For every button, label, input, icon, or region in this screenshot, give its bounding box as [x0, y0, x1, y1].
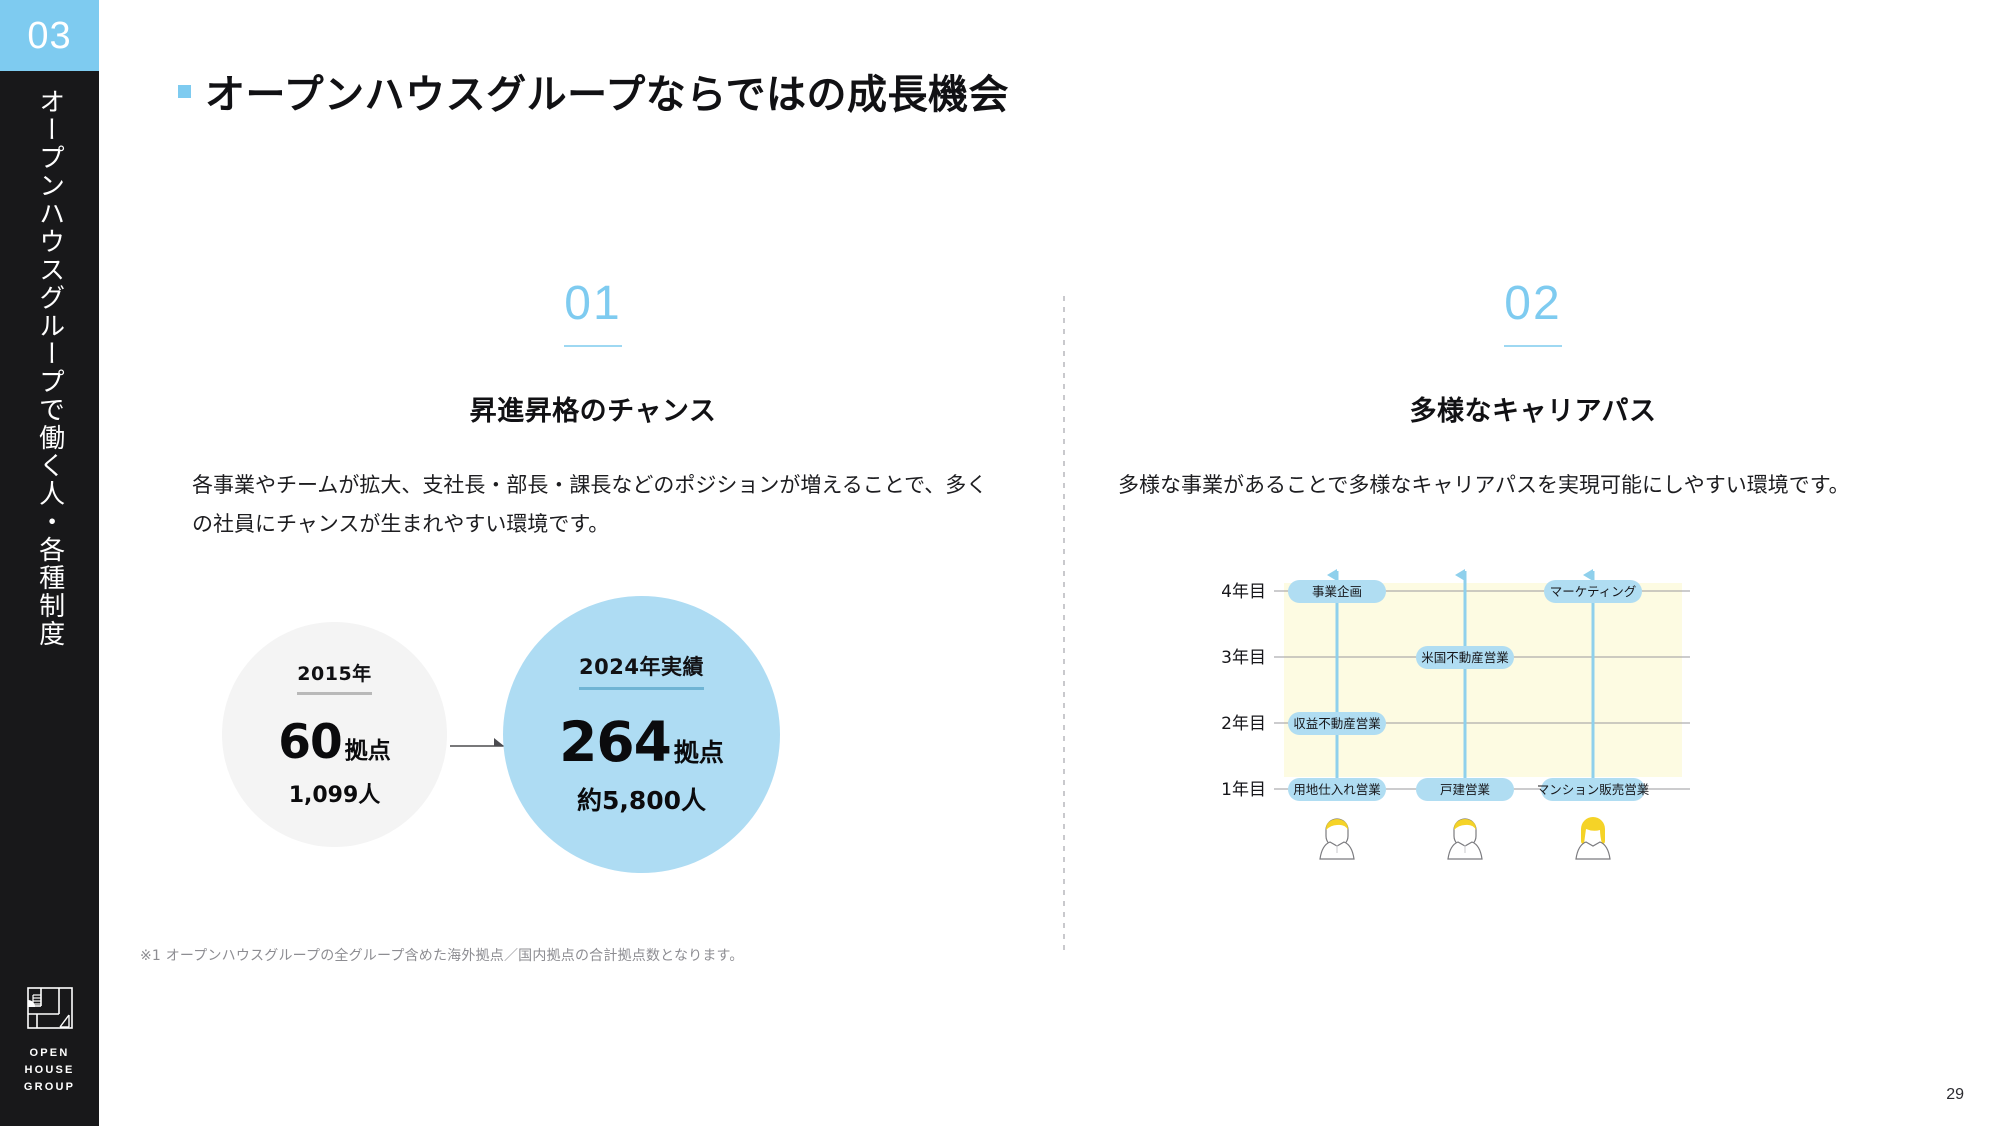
- sidebar-vertical-title-text: オープンハウスグループで働く人・各種制度: [29, 88, 69, 648]
- career-pill-p2-year1-label: 戸建営業: [1440, 782, 1491, 797]
- career-pill-p1-year4-label: 事業企画: [1312, 584, 1362, 599]
- section-01-underline: [564, 345, 622, 347]
- section-01: 01 昇進昇格のチャンス 各事業やチームが拡大、支社長・部長・課長などのポジショ…: [178, 280, 1008, 896]
- floorplan-icon: [24, 984, 76, 1036]
- axis-label-year2: 2年目: [1222, 714, 1266, 734]
- career-pill-p3-year4: マーケティング: [1544, 580, 1642, 603]
- chapter-number: 03: [27, 17, 71, 55]
- section-01-body: 各事業やチームが拡大、支社長・部長・課長などのポジションが増えることで、多くの社…: [178, 466, 1008, 544]
- page-title: オープンハウスグループならではの成長機会: [205, 62, 1009, 120]
- section-02-body: 多様な事業があることで多様なキャリアパスを実現可能にしやすい環境です。: [1118, 466, 1948, 505]
- logo-line-house: HOUSE: [24, 1062, 75, 1079]
- square-bullet-icon: [178, 85, 191, 98]
- stat-after-headcount: 約5,800人: [577, 781, 706, 817]
- page-number: 29: [1946, 1086, 1964, 1104]
- career-arrow-2-icon: [1455, 569, 1465, 581]
- footnote: ※1 オープンハウスグループの全グループ含めた海外拠点／国内拠点の合計拠点数とな…: [140, 945, 900, 965]
- career-pill-p2-year1: 戸建営業: [1416, 778, 1514, 801]
- chart-panel: [1284, 583, 1682, 777]
- section-02-number: 02: [1118, 280, 1948, 328]
- section-02-heading: 多様なキャリアパス: [1118, 389, 1948, 428]
- stat-before-value: 60: [278, 715, 341, 770]
- person-male-icon: [1320, 819, 1354, 859]
- career-pill-p1-year2-label: 収益不動産営業: [1293, 716, 1381, 731]
- stat-after-main: 264 拠点: [559, 710, 724, 774]
- stat-after-year: 2024年実績: [579, 651, 704, 690]
- axis-label-year4: 4年目: [1222, 582, 1266, 602]
- stat-after-value: 264: [559, 710, 671, 774]
- logo-line-open: OPEN: [24, 1045, 75, 1062]
- stat-before-main: 60 拠点: [278, 715, 390, 770]
- sidebar-vertical-title: オープンハウスグループで働く人・各種制度: [0, 88, 99, 848]
- career-pill-p2-year3: 米国不動産営業: [1416, 646, 1514, 669]
- career-pill-p3-year1-label: マンション販売営業: [1537, 782, 1650, 797]
- stat-circle-before: 2015年 60 拠点 1,099人: [222, 622, 447, 847]
- career-arrow-1-icon: [1327, 569, 1337, 581]
- stat-before-unit: 拠点: [345, 731, 391, 765]
- career-path-chart: 4年目 3年目 2年目 1年目 事業企画 収益不動産営業 用地仕入れ営業: [1222, 561, 1692, 861]
- section-01-number-badge: 01: [178, 280, 1008, 347]
- axis-label-year3: 3年目: [1222, 648, 1266, 668]
- stat-circle-after: 2024年実績 264 拠点 約5,800人: [503, 596, 780, 873]
- career-pill-p1-year1-label: 用地仕入れ営業: [1293, 782, 1381, 797]
- person-male-icon: [1448, 819, 1482, 859]
- section-02-underline: [1504, 345, 1562, 347]
- chapter-badge: 03: [0, 0, 99, 71]
- logo-line-group: GROUP: [24, 1079, 75, 1096]
- section-02: 02 多様なキャリアパス 多様な事業があることで多様なキャリアパスを実現可能にし…: [1118, 280, 1948, 861]
- career-pill-p3-year1: マンション販売営業: [1537, 778, 1650, 801]
- logo: OPEN HOUSE GROUP: [0, 984, 99, 1096]
- career-pill-p2-year3-label: 米国不動産営業: [1421, 650, 1509, 665]
- career-pill-p1-year2: 収益不動産営業: [1288, 712, 1386, 735]
- career-pill-p1-year1: 用地仕入れ営業: [1288, 778, 1386, 801]
- stat-before-headcount: 1,099人: [289, 777, 381, 809]
- axis-label-year1: 1年目: [1222, 780, 1266, 800]
- person-female-icon: [1576, 817, 1610, 859]
- sidebar: 03 オープンハウスグループで働く人・各種制度 OPEN HOUSE GROUP: [0, 0, 99, 1126]
- stat-after-unit: 拠点: [674, 733, 724, 769]
- career-pill-p1-year4: 事業企画: [1288, 580, 1386, 603]
- career-pill-p3-year4-label: マーケティング: [1550, 584, 1637, 599]
- stats-comparison: 2015年 60 拠点 1,099人 2024年実績 264 拠点 約5,800…: [178, 596, 1008, 896]
- right-arrow-icon: [450, 734, 506, 758]
- page-title-row: オープンハウスグループならではの成長機会: [178, 62, 1009, 120]
- career-arrow-3-icon: [1583, 569, 1593, 581]
- logo-wordmark: OPEN HOUSE GROUP: [24, 1045, 75, 1096]
- section-02-number-badge: 02: [1118, 280, 1948, 347]
- section-01-heading: 昇進昇格のチャンス: [178, 389, 1008, 428]
- stat-before-year: 2015年: [297, 659, 371, 695]
- section-01-number: 01: [178, 280, 1008, 328]
- column-divider: [1063, 296, 1065, 956]
